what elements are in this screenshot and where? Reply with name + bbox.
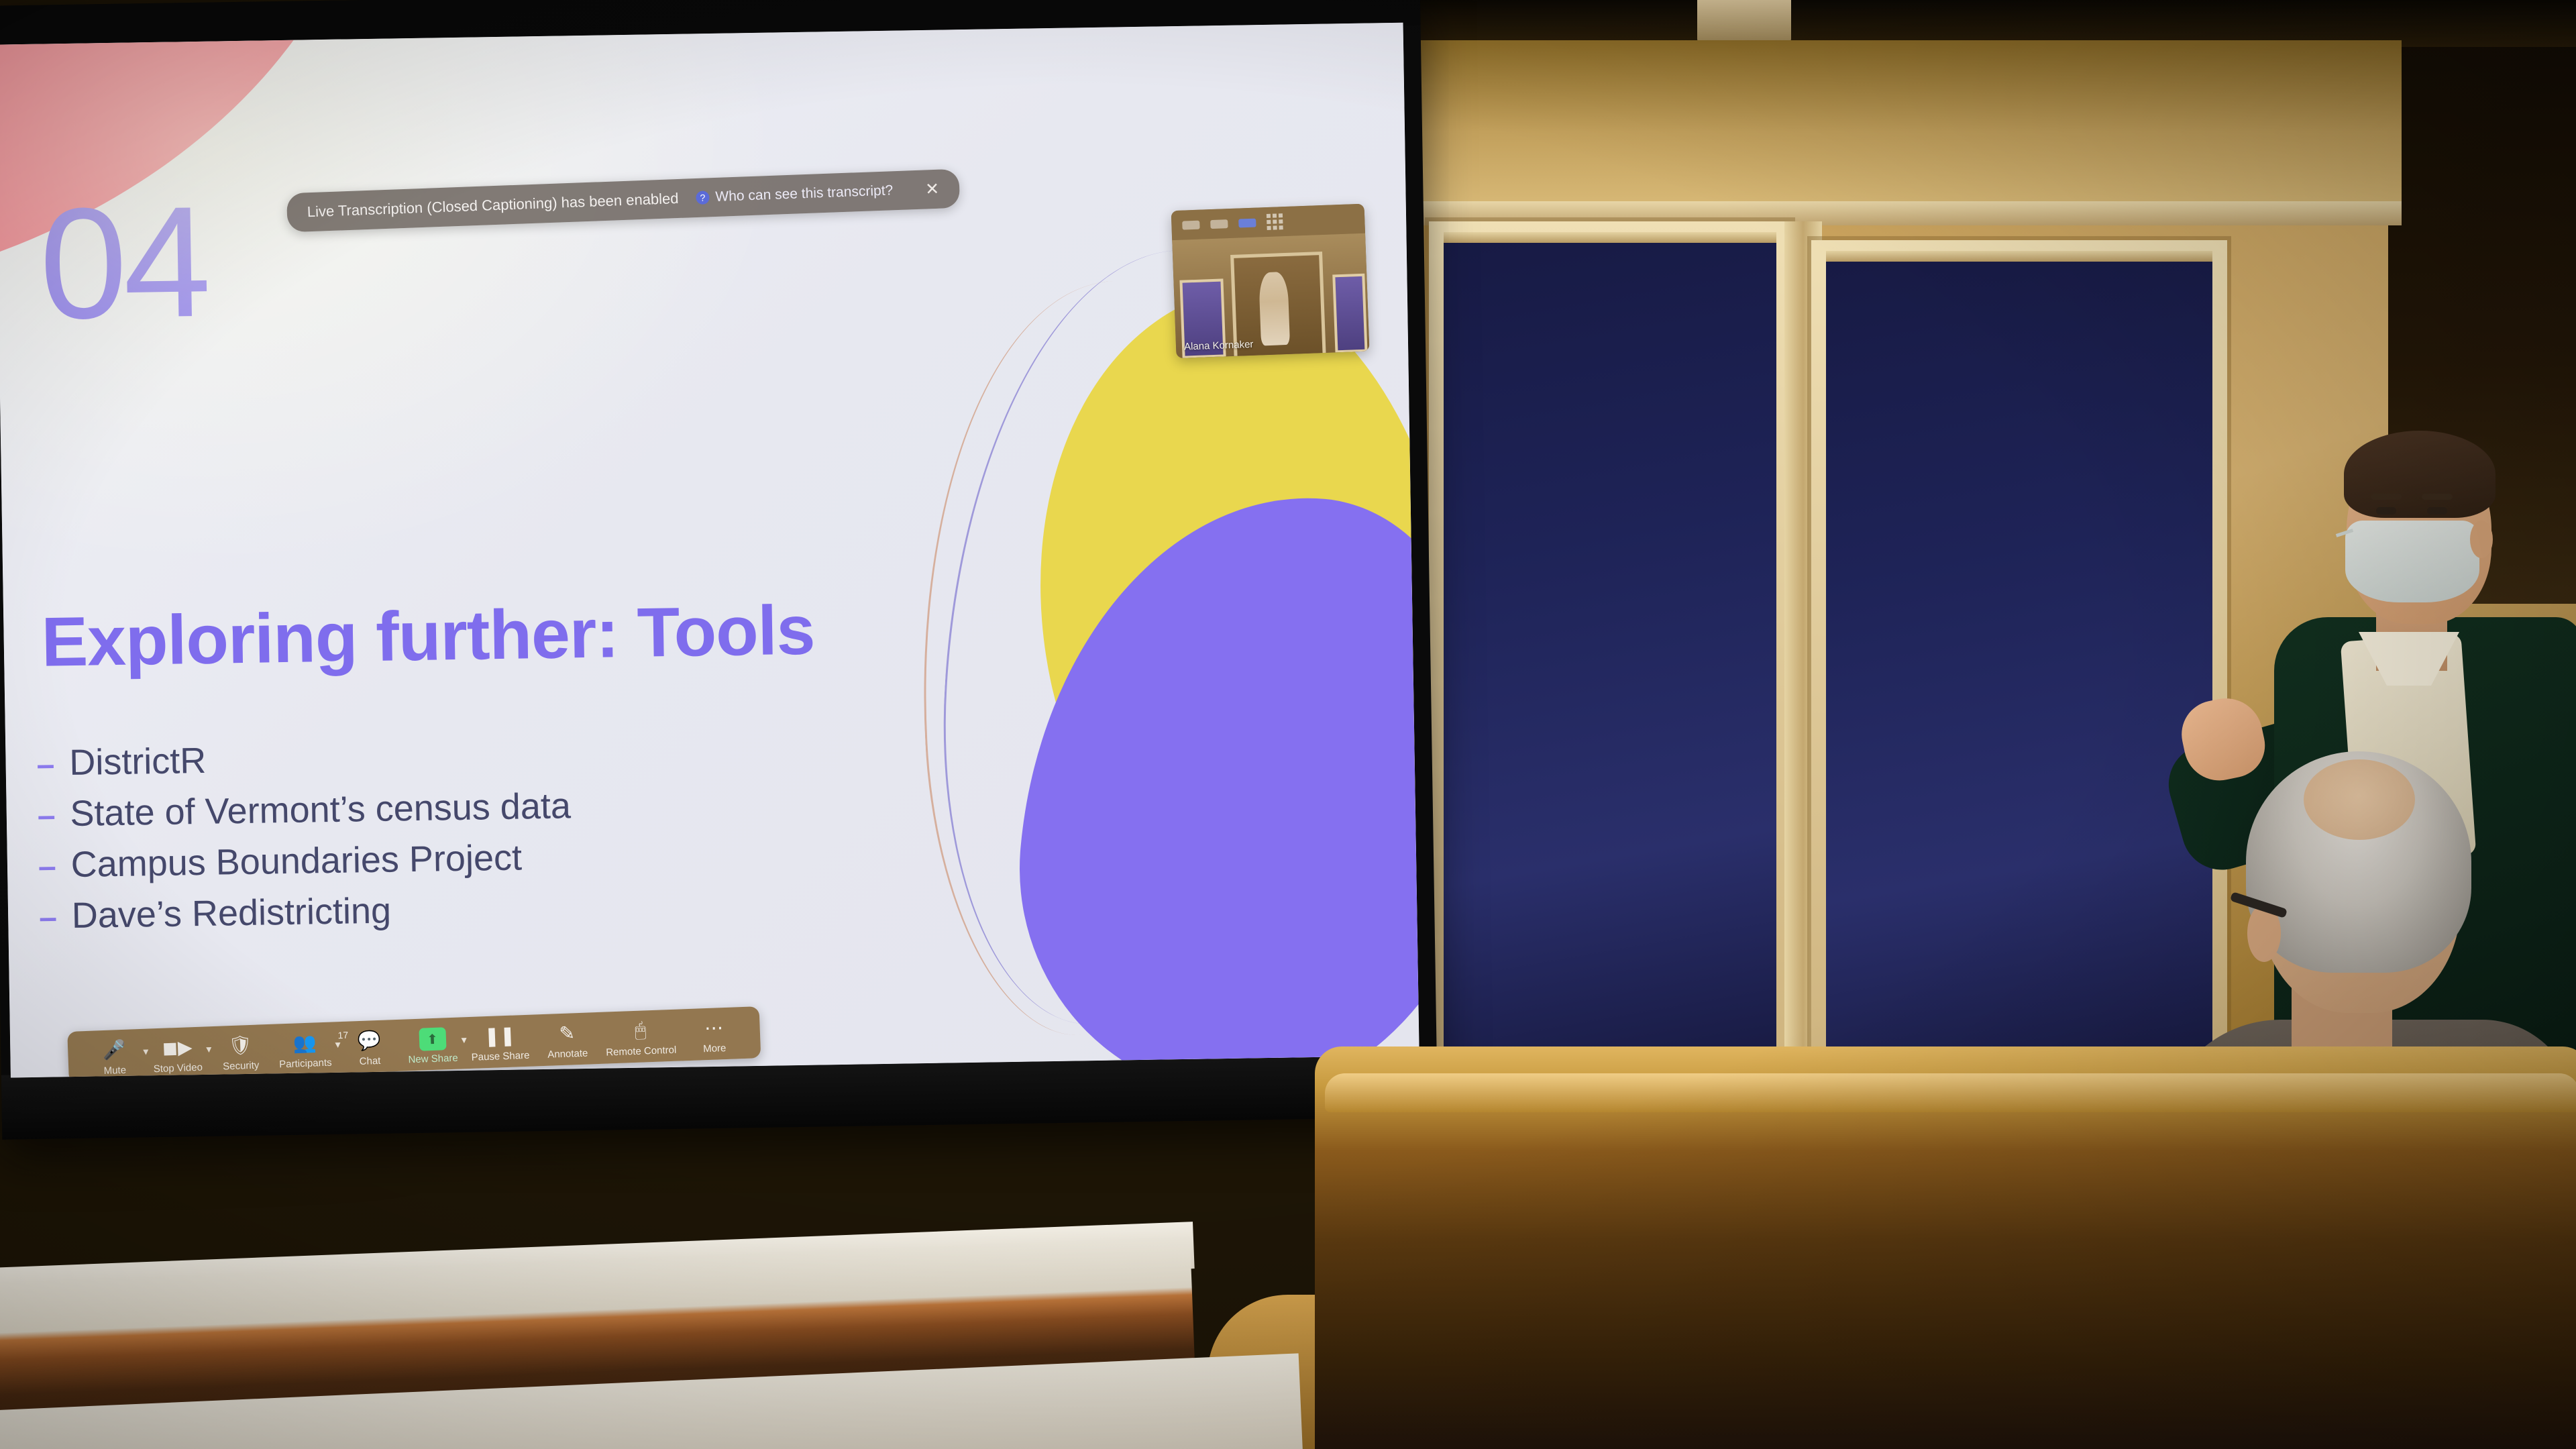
screen-surface: 04 Exploring further: Tools – DistrictR …	[0, 23, 1419, 1078]
close-icon[interactable]: ✕	[925, 179, 940, 200]
slide-curve-line-orange	[902, 274, 1291, 1042]
chat-bubble-icon: 💬	[357, 1027, 381, 1053]
info-icon: ?	[696, 191, 710, 205]
toolbar-button-participants[interactable]: 👥 17 Participants	[271, 1028, 338, 1071]
toolbar-label: Stop Video	[153, 1062, 203, 1075]
toolbar-button-pause-share[interactable]: ❚❚ Pause Share	[464, 1021, 537, 1063]
participants-count-badge: 17	[337, 1030, 348, 1041]
presenter-ear	[2470, 521, 2493, 558]
link-label: Who can see this transcript?	[715, 182, 894, 205]
participants-icon: 👥	[292, 1029, 317, 1055]
toolbar-label: Pause Share	[471, 1050, 529, 1063]
gallery-view-icon[interactable]	[1238, 218, 1256, 227]
audience-scalp	[2304, 759, 2415, 840]
lecture-room-scene: 04 Exploring further: Tools – DistrictR …	[0, 0, 2576, 1449]
list-item: – DistrictR	[36, 737, 570, 781]
upper-wall	[1355, 40, 2402, 208]
toolbar-button-stop-video[interactable]: ◼▶ Stop Video	[146, 1033, 210, 1075]
participant-video-thumbnail[interactable]: Alana Kornaker	[1171, 204, 1370, 358]
ceiling-vent	[1697, 0, 1791, 43]
toolbar-button-remote-control[interactable]: 🖱 Remote Control	[598, 1016, 683, 1059]
list-item: – Campus Boundaries Project	[38, 839, 572, 883]
presenter-eye	[2376, 507, 2396, 515]
slide-bullet-list: – DistrictR – State of Vermont’s census …	[36, 737, 573, 949]
window-blind-header	[1826, 251, 2212, 262]
presenter-eyebrow	[2422, 494, 2453, 500]
presenter-hair	[2344, 431, 2495, 518]
list-item: – State of Vermont’s census data	[37, 788, 571, 832]
bullet-dash-icon: –	[38, 851, 56, 883]
toolbar-label: Participants	[279, 1057, 332, 1071]
who-can-see-transcript-link[interactable]: ? Who can see this transcript?	[696, 182, 894, 206]
bullet-text: Dave’s Redistricting	[71, 893, 391, 934]
thumbnail-person	[1258, 272, 1290, 346]
bullet-text: State of Vermont’s census data	[70, 788, 571, 832]
toolbar-button-security[interactable]: 🛡 Security	[208, 1031, 272, 1073]
toolbar-button-mute[interactable]: 🎤 Mute	[83, 1036, 147, 1077]
bullet-text: DistrictR	[69, 743, 207, 781]
video-camera-icon: ◼▶	[162, 1034, 193, 1061]
ellipsis-icon: ⋯	[704, 1014, 723, 1040]
toolbar-button-new-share[interactable]: ⬆ New Share	[400, 1026, 465, 1065]
window-left	[1429, 221, 1791, 1107]
presenter-eye	[2427, 507, 2447, 515]
share-screen-icon: ⬆	[419, 1027, 446, 1051]
toolbar-button-annotate[interactable]: ✎ Annotate	[535, 1019, 600, 1061]
presenter-face-mask	[2345, 521, 2479, 602]
bullet-text: Campus Boundaries Project	[70, 839, 522, 883]
bullet-dash-icon: –	[37, 800, 55, 832]
slide-section-number: 04	[38, 182, 208, 343]
shield-icon: 🛡	[228, 1032, 253, 1058]
presenter-eyebrow	[2371, 494, 2402, 500]
window-blind	[1444, 236, 1776, 1107]
thumbnail-video-feed: Alana Kornaker	[1172, 233, 1369, 358]
toolbar-label: Annotate	[547, 1048, 588, 1061]
toolbar-button-more[interactable]: ⋯ More	[682, 1014, 746, 1055]
thumbnail-window-right	[1332, 274, 1368, 354]
window-blind	[1826, 255, 2212, 1112]
notification-message: Live Transcription (Closed Captioning) h…	[307, 190, 679, 221]
grid-view-icon[interactable]	[1267, 213, 1283, 230]
toolbar-label: Remote Control	[606, 1044, 677, 1059]
minimize-icon[interactable]	[1182, 220, 1199, 229]
toolbar-label: Security	[223, 1060, 260, 1073]
podium-top-edge	[1325, 1073, 2576, 1112]
bullet-dash-icon: –	[39, 902, 57, 934]
toolbar-label: Chat	[359, 1055, 380, 1067]
toolbar-label: Mute	[103, 1065, 126, 1077]
microphone-icon: 🎤	[102, 1036, 126, 1063]
list-item: – Dave’s Redistricting	[39, 890, 573, 934]
bullet-dash-icon: –	[36, 749, 54, 781]
window-blind-header	[1444, 232, 1776, 243]
mouse-icon: 🖱	[635, 1017, 647, 1043]
pencil-icon: ✎	[559, 1020, 576, 1046]
toolbar-label: New Share	[408, 1053, 458, 1066]
speaker-view-icon[interactable]	[1210, 219, 1228, 229]
pause-icon: ❚❚	[484, 1022, 516, 1049]
projection-screen: 04 Exploring further: Tools – DistrictR …	[0, 0, 1438, 1140]
slide-title: Exploring further: Tools	[41, 596, 815, 678]
toolbar-label: More	[703, 1042, 727, 1055]
